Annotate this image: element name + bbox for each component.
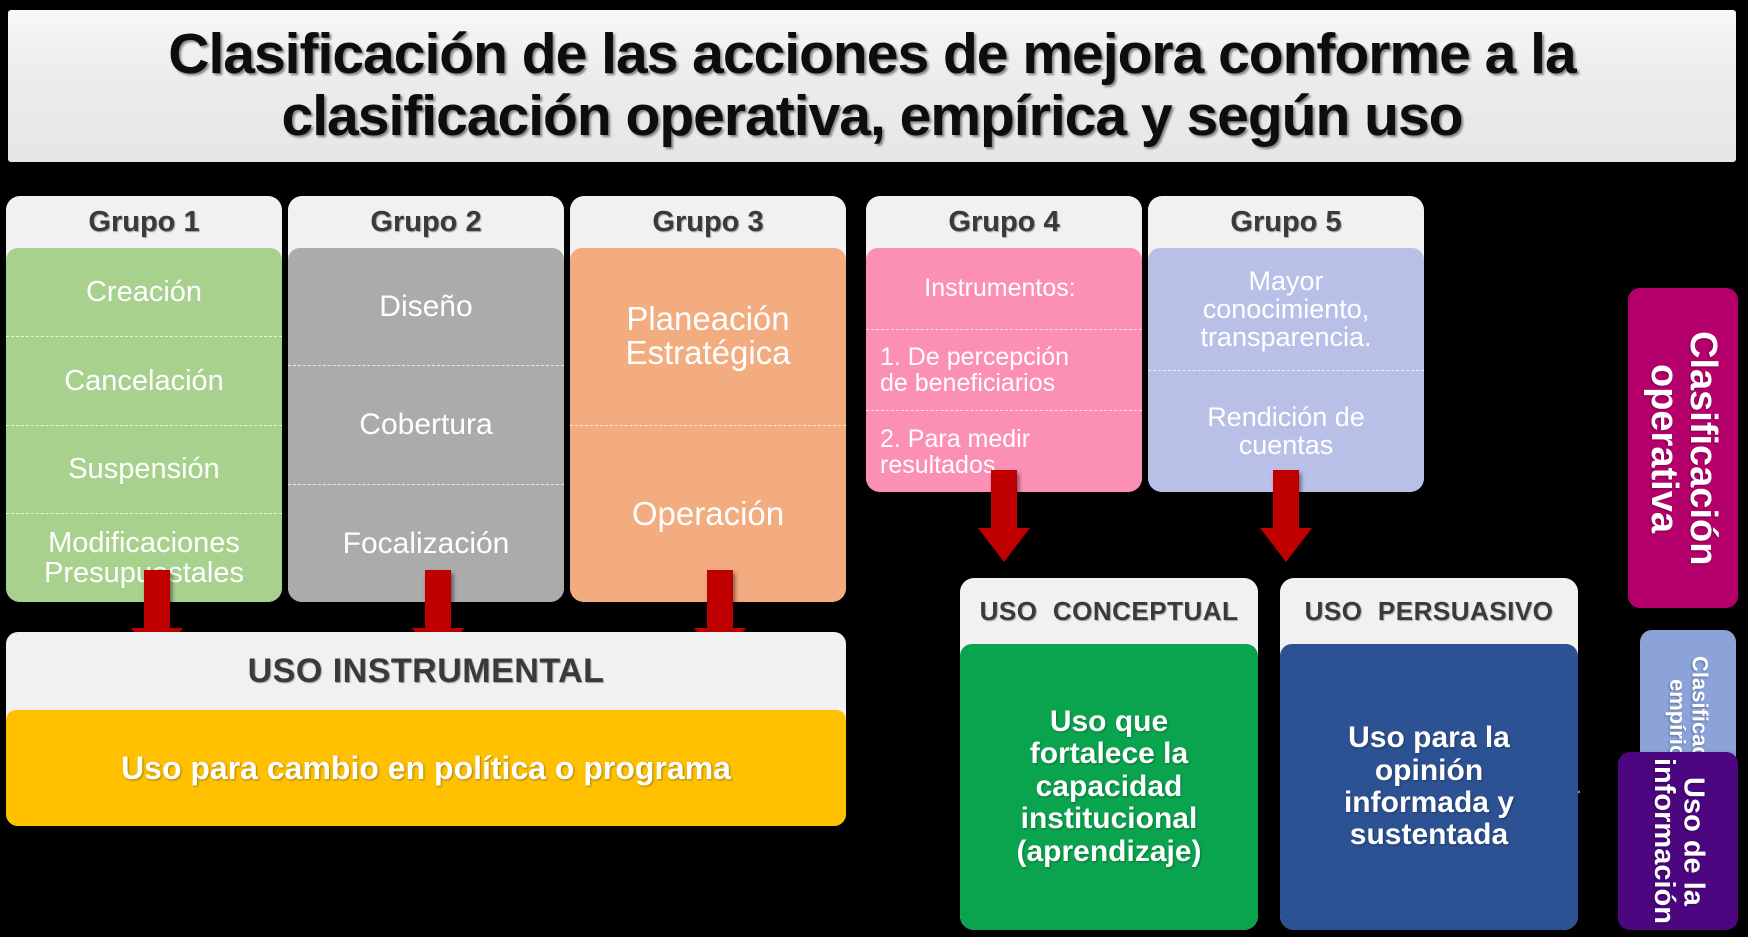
outcome-card-conceptual[interactable]: USO CONCEPTUAL Uso que fortalece la capa… [960, 578, 1258, 930]
group-body-3: Planeación Estratégica Operación [570, 248, 846, 602]
conceptual-text: Uso que fortalece la capacidad instituci… [960, 644, 1258, 930]
instrumental-text: Uso para cambio en política o programa [6, 710, 846, 826]
persuasivo-text: Uso para la opinión informada y sustenta… [1280, 644, 1578, 930]
title-banner: Clasificación de las acciones de mejora … [8, 10, 1736, 162]
group-5-item-0: Mayor conocimiento, transparencia. [1148, 248, 1424, 371]
group-title-5: Grupo 5 [1148, 196, 1424, 248]
group-1-item-2: Suspensión [6, 426, 282, 515]
group-card-grupo-4[interactable]: Grupo 4 Instrumentos: 1. De percepción d… [866, 196, 1142, 492]
group-body-4: Instrumentos: 1. De percepción de benefi… [866, 248, 1142, 492]
group-3-item-0: Planeación Estratégica [570, 248, 846, 426]
group-title-1: Grupo 1 [6, 196, 282, 248]
down-arrow-icon-grupo-4 [978, 470, 1030, 562]
arrow-shaft [1273, 470, 1299, 528]
group-title-2: Grupo 2 [288, 196, 564, 248]
group-card-grupo-2[interactable]: Grupo 2 Diseño Cobertura Focalización [288, 196, 564, 602]
group-title-3: Grupo 3 [570, 196, 846, 248]
group-card-grupo-5[interactable]: Grupo 5 Mayor conocimiento, transparenci… [1148, 196, 1424, 492]
side-label-clasificacion-operativa[interactable]: Clasificación operativa [1628, 288, 1738, 608]
arrow-shaft [144, 570, 170, 628]
conceptual-label: USO CONCEPTUAL [960, 578, 1258, 644]
group-2-item-0: Diseño [288, 248, 564, 366]
persuasivo-label: USO PERSUASIVO [1280, 578, 1578, 644]
arrow-shaft [707, 570, 733, 628]
outcome-card-instrumental[interactable]: USO INSTRUMENTAL Uso para cambio en polí… [6, 632, 846, 826]
group-1-item-0: Creación [6, 248, 282, 337]
group-card-grupo-1[interactable]: Grupo 1 Creación Cancelación Suspensión … [6, 196, 282, 602]
arrow-shaft [991, 470, 1017, 528]
group-body-1: Creación Cancelación Suspensión Modifica… [6, 248, 282, 602]
group-title-4: Grupo 4 [866, 196, 1142, 248]
outcome-card-persuasivo[interactable]: USO PERSUASIVO Uso para la opinión infor… [1280, 578, 1578, 930]
arrow-head [1260, 528, 1312, 562]
group-body-5: Mayor conocimiento, transparencia. Rendi… [1148, 248, 1424, 492]
arrow-head [978, 528, 1030, 562]
side-label-uso-de-la-informacion[interactable]: Uso de la información [1618, 752, 1738, 930]
group-2-item-1: Cobertura [288, 366, 564, 484]
group-4-item-1: 1. De percepción de beneficiarios [866, 330, 1142, 412]
group-4-item-0: Instrumentos: [866, 248, 1142, 330]
side-label-operativa-text: Clasificación operativa [1644, 331, 1722, 565]
arrow-shaft [425, 570, 451, 628]
side-label-uso-informacion-text: Uso de la información [1648, 758, 1707, 924]
group-body-2: Diseño Cobertura Focalización [288, 248, 564, 602]
instrumental-label: USO INSTRUMENTAL [6, 632, 846, 710]
diagram-canvas: Clasificación de las acciones de mejora … [0, 0, 1748, 937]
group-card-grupo-3[interactable]: Grupo 3 Planeación Estratégica Operación [570, 196, 846, 602]
page-title: Clasificación de las acciones de mejora … [8, 24, 1736, 147]
group-1-item-1: Cancelación [6, 337, 282, 426]
down-arrow-icon-grupo-5 [1260, 470, 1312, 562]
